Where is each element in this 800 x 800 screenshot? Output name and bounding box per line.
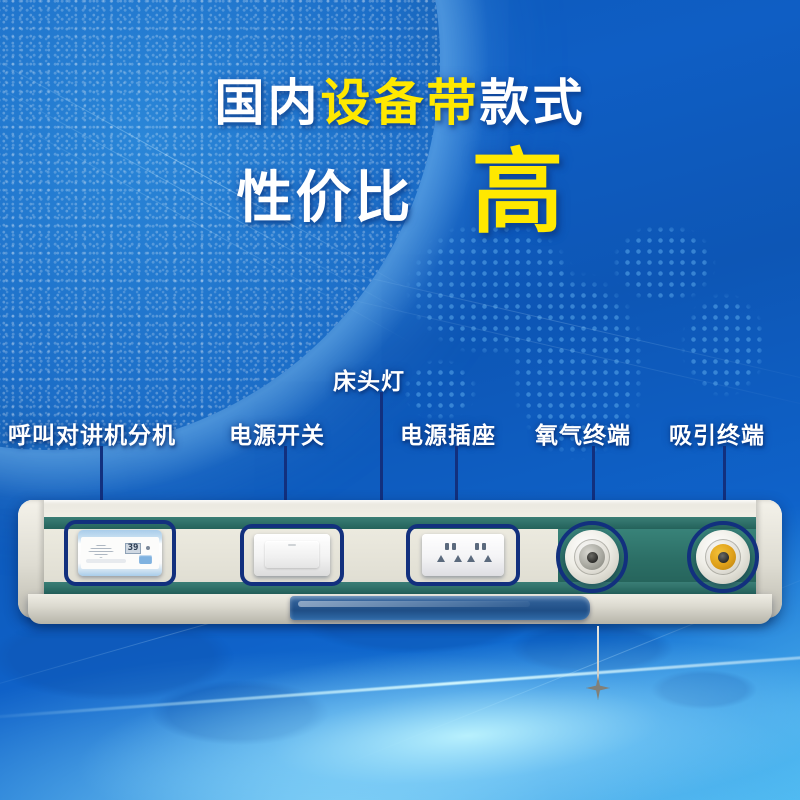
callout-label-intercom: 呼叫对讲机分机 xyxy=(8,416,176,450)
headline-seg-2: 设备带 xyxy=(321,75,480,131)
callout-label-power-switch: 电源开关 xyxy=(229,416,325,450)
headline-value-text: 性价比 xyxy=(236,153,413,234)
callout-label-oxygen: 氧气终端 xyxy=(535,416,631,450)
highlight-box-intercom xyxy=(64,520,176,586)
headline-line-1: 国内设备带款式 xyxy=(0,78,800,128)
headline-block: 国内设备带款式 xyxy=(0,78,800,128)
bed-lamp-strip[interactable] xyxy=(290,596,590,620)
callout-label-bed-lamp: 床头灯 xyxy=(333,362,405,396)
pull-cord[interactable] xyxy=(597,626,599,684)
headline-seg-3: 款式 xyxy=(480,75,586,131)
callout-label-power-socket: 电源插座 xyxy=(400,416,496,450)
headline-line-2: 性价比 高 xyxy=(0,152,800,235)
highlight-circle-oxygen xyxy=(556,521,628,593)
headline-seg-1: 国内 xyxy=(215,75,321,131)
promo-banner: 国内设备带款式 性价比 高 呼叫对讲机分机 电源开关 床头灯 电源插座 氧气终端… xyxy=(0,0,800,800)
callout-label-suction: 吸引终端 xyxy=(669,416,765,450)
headline-accent-char: 高 xyxy=(471,152,563,235)
highlight-box-power-socket xyxy=(406,524,520,586)
highlight-circle-suction xyxy=(687,521,759,593)
highlight-box-power-switch xyxy=(240,524,344,586)
